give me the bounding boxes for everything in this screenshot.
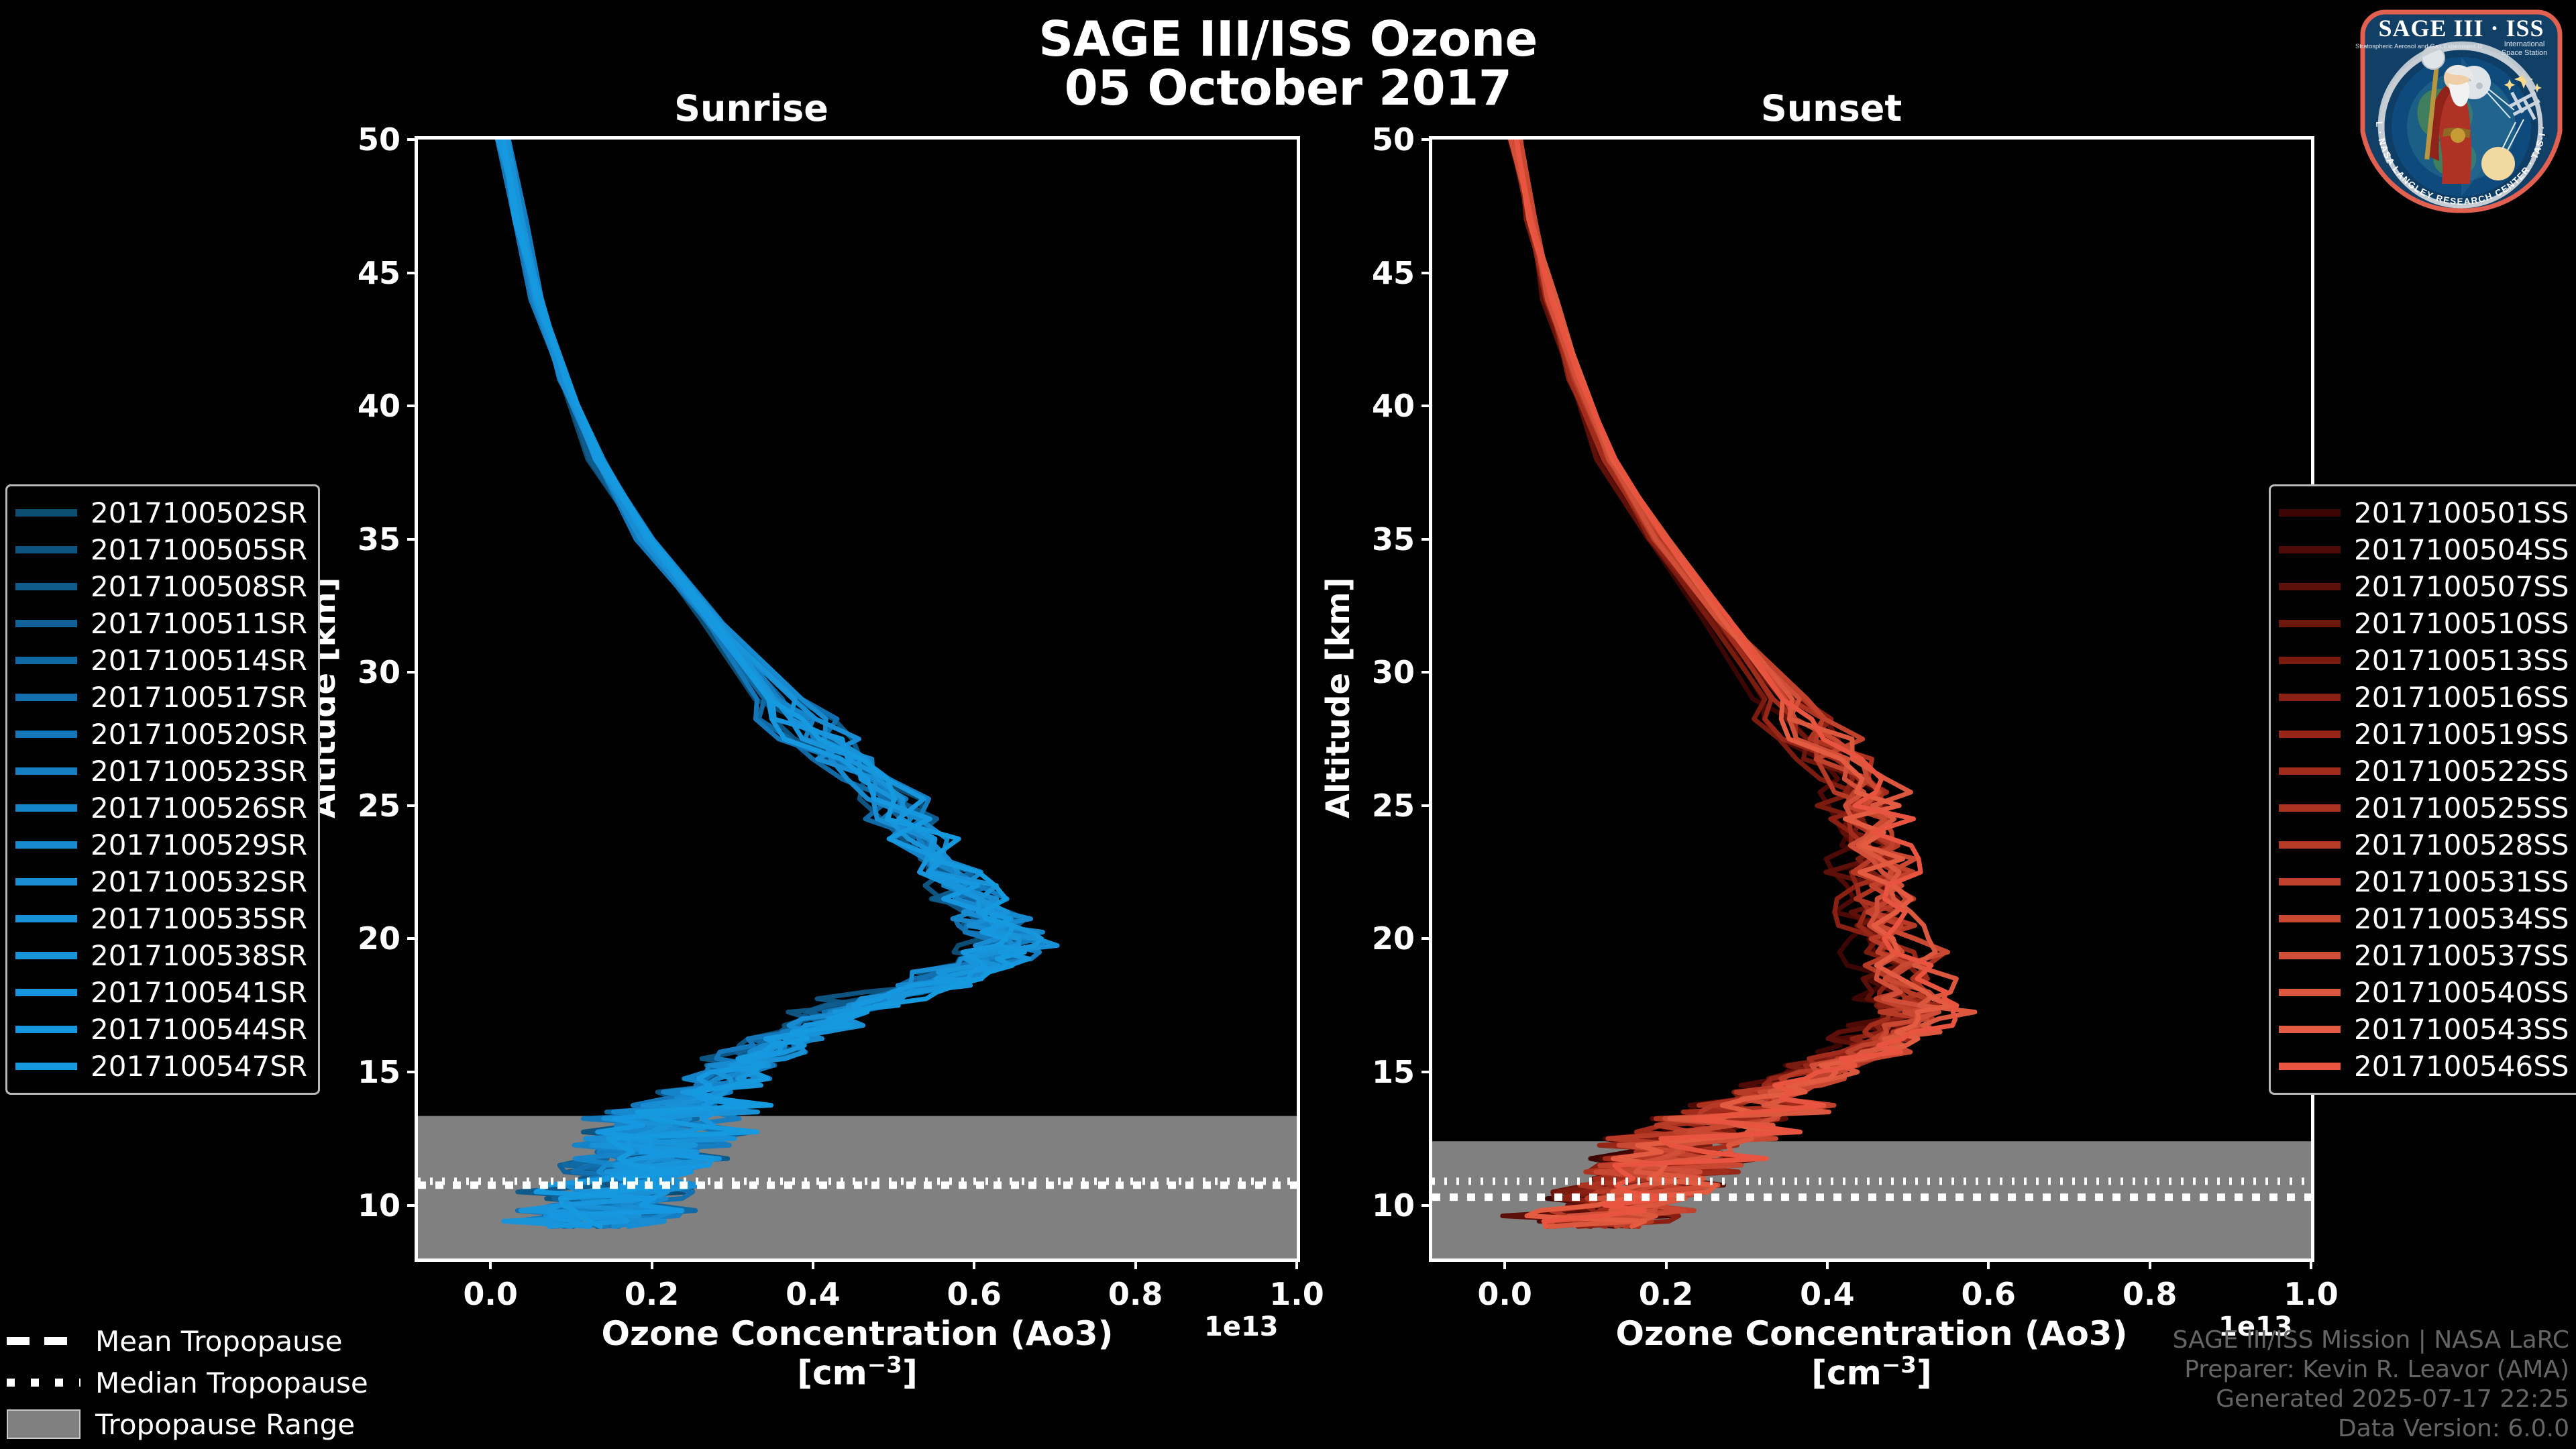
legend-color-swatch [2279, 841, 2341, 849]
x-axis-tick-label: 0.8 [2123, 1276, 2178, 1312]
sage-iii-iss-mission-patch-logo: SAGE III · ISS Stratospheric Aerosol and… [2355, 4, 2568, 217]
legend-label: 2017100511SR [91, 607, 307, 640]
y-axis-tick-mark [407, 1071, 418, 1073]
x-axis-tick-label: 0.2 [625, 1276, 680, 1312]
panel-title-sunset: Sunset [1630, 87, 2033, 129]
legend-item-sunrise-5[interactable]: 2017100517SR [15, 679, 307, 716]
plot-sunset: 101520253035404550 0.00.20.40.60.81.0 [1429, 136, 2314, 1262]
legend-color-swatch [2279, 952, 2341, 959]
legend-label: 2017100510SS [2354, 607, 2569, 640]
legend-item-sunrise-1[interactable]: 2017100505SR [15, 531, 307, 568]
legend-label: 2017100534SS [2354, 902, 2569, 935]
legend-item-sunset-8[interactable]: 2017100525SS [2279, 790, 2569, 826]
logo-title: SAGE III · ISS [2378, 15, 2544, 42]
filled-box-icon [7, 1414, 80, 1434]
legend-item-sunrise-7[interactable]: 2017100523SR [15, 753, 307, 790]
y-axis-label-sunset: Altitude [km] [1320, 577, 1357, 818]
x-axis-label-sunrise: Ozone Concentration (Ao3) [cm−3] [415, 1315, 1300, 1392]
x-axis-label-units-sunrise: [cm−3] [415, 1352, 1300, 1392]
legend-label: 2017100517SR [91, 681, 307, 714]
legend-label-mean-tropopause: Mean Tropopause [95, 1325, 342, 1358]
legend-color-swatch [15, 952, 77, 959]
legend-item-sunset-10[interactable]: 2017100531SS [2279, 863, 2569, 900]
legend-label: 2017100519SS [2354, 718, 2569, 751]
legend-label: 2017100535SR [91, 902, 307, 935]
legend-color-swatch [15, 878, 77, 885]
legend-label: 2017100523SR [91, 755, 307, 788]
legend-item-sunset-6[interactable]: 2017100519SS [2279, 716, 2569, 753]
logo-subtitle-left: Stratospheric Aerosol and Gas Experiment… [2355, 43, 2483, 50]
legend-label: 2017100544SR [91, 1013, 307, 1046]
y-axis-tick-mark [407, 671, 418, 674]
legend-label: 2017100504SS [2354, 533, 2569, 566]
data-series-line [1521, 140, 1945, 1226]
legend-item-sunrise-15[interactable]: 2017100547SR [15, 1048, 307, 1085]
legend-color-swatch [15, 731, 77, 738]
legend-item-sunset-9[interactable]: 2017100528SS [2279, 826, 2569, 863]
legend-label: 2017100531SS [2354, 865, 2569, 898]
legend-color-swatch [2279, 804, 2341, 812]
x-axis-tick-mark [812, 1258, 814, 1269]
legend-label: 2017100532SR [91, 865, 307, 898]
legend-label: 2017100529SR [91, 828, 307, 861]
data-series-line [1512, 140, 1939, 1226]
x-axis-tick-label: 0.6 [1962, 1276, 2017, 1312]
legend-color-swatch [2279, 878, 2341, 885]
page-title: SAGE III/ISS Ozone 05 October 2017 [0, 15, 2576, 113]
legend-label: 2017100514SR [91, 644, 307, 677]
legend-color-swatch [2279, 694, 2341, 701]
legend-item-sunset-13[interactable]: 2017100540SS [2279, 974, 2569, 1011]
x-axis-tick-mark [2149, 1258, 2151, 1269]
legend-label: 2017100525SS [2354, 792, 2569, 824]
x-axis-tick-mark [1987, 1258, 1990, 1269]
panel-title-sunrise: Sunrise [550, 87, 953, 129]
x-axis-tick-label: 0.4 [1800, 1276, 1855, 1312]
y-axis-tick-mark [407, 538, 418, 541]
y-axis-tick-mark [407, 405, 418, 407]
data-series-line [1516, 140, 1957, 1226]
legend-color-swatch [2279, 989, 2341, 996]
legend-label: 2017100508SR [91, 570, 307, 603]
x-axis-tick-mark [651, 1258, 653, 1269]
y-axis-tick-mark [407, 937, 418, 940]
y-axis-tick-mark [407, 804, 418, 807]
legend-label: 2017100547SR [91, 1050, 307, 1083]
legend-label: 2017100520SR [91, 718, 307, 751]
chart-canvas-sunrise [418, 140, 1297, 1258]
legend-color-swatch [2279, 731, 2341, 738]
legend-item-sunset-12[interactable]: 2017100537SS [2279, 937, 2569, 974]
legend-label-median-tropopause: Median Tropopause [95, 1366, 368, 1399]
legend-item-sunrise-3[interactable]: 2017100511SR [15, 605, 307, 642]
x-axis-tick-label: 0.8 [1108, 1276, 1163, 1312]
legend-color-swatch [15, 1063, 77, 1070]
legend-color-swatch [15, 804, 77, 812]
y-axis-tick-mark [1421, 272, 1432, 274]
x-axis-tick-mark [1826, 1258, 1829, 1269]
x-axis-tick-label: 0.0 [1477, 1276, 1532, 1312]
legend-label: 2017100522SS [2354, 755, 2569, 788]
legend-label-tropopause-range: Tropopause Range [95, 1408, 355, 1441]
legend-label: 2017100501SS [2354, 496, 2569, 529]
x-axis-tick-mark [973, 1258, 975, 1269]
legend-item-sunset-11[interactable]: 2017100534SS [2279, 900, 2569, 937]
y-axis-tick-mark [1421, 804, 1432, 807]
y-axis-tick-mark [407, 1204, 418, 1207]
legend-item-sunset-14[interactable]: 2017100543SS [2279, 1011, 2569, 1048]
x-axis-tick-mark [1134, 1258, 1137, 1269]
y-axis-tick-mark [1421, 1071, 1432, 1073]
legend-color-swatch [15, 657, 77, 664]
legend-item-sunrise-14[interactable]: 2017100544SR [15, 1011, 307, 1048]
legend-item-sunrise-8[interactable]: 2017100526SR [15, 790, 307, 826]
legend-item-sunrise-2[interactable]: 2017100508SR [15, 568, 307, 605]
legend-item-sunrise-11[interactable]: 2017100535SR [15, 900, 307, 937]
legend-label: 2017100507SS [2354, 570, 2569, 603]
legend-color-swatch [2279, 620, 2341, 627]
credits-mission: SAGE III/ISS Mission | NASA LaRC [2173, 1326, 2569, 1355]
title-line-1: SAGE III/ISS Ozone [0, 15, 2576, 64]
x-axis-tick-label: 0.6 [947, 1276, 1002, 1312]
dashed-line-icon [7, 1331, 80, 1351]
logo-subtitle-right-1: International [2504, 40, 2545, 48]
logo-subtitle-right-2: Space Station [2502, 49, 2548, 57]
title-line-2: 05 October 2017 [0, 64, 2576, 113]
y-axis-tick-mark [1421, 937, 1432, 940]
credits-data-version: Data Version: 6.0.0 [2173, 1414, 2569, 1444]
legend-item-sunset-1[interactable]: 2017100504SS [2279, 531, 2569, 568]
y-axis-tick-mark [1421, 405, 1432, 407]
mission-patch-icon: SAGE III · ISS Stratospheric Aerosol and… [2355, 4, 2568, 217]
dotted-line-icon [7, 1373, 80, 1393]
legend-item-tropopause-range: Tropopause Range [7, 1403, 368, 1445]
legend-label: 2017100546SS [2354, 1050, 2569, 1083]
legend-item-sunset-5[interactable]: 2017100516SS [2279, 679, 2569, 716]
data-series-line [1517, 140, 1951, 1226]
legend-item-sunrise-0[interactable]: 2017100502SR [15, 494, 307, 531]
legend-color-swatch [15, 694, 77, 701]
legend-item-sunset-15[interactable]: 2017100546SS [2279, 1048, 2569, 1085]
x-axis-offset-sunrise: 1e13 [1204, 1311, 1279, 1342]
y-axis-tick-mark [1421, 138, 1432, 141]
legend-color-swatch [15, 1026, 77, 1033]
plot-sunrise: 101520253035404550 0.00.20.40.60.81.0 [415, 136, 1300, 1262]
legend-color-swatch [2279, 1063, 2341, 1070]
plot-area-sunrise [418, 140, 1297, 1258]
data-series-line [1511, 140, 1939, 1226]
legend-color-swatch [15, 620, 77, 627]
legend-color-swatch [15, 989, 77, 996]
y-axis-tick-mark [1421, 671, 1432, 674]
x-axis-tick-mark [489, 1258, 492, 1269]
legend-item-sunset-0[interactable]: 2017100501SS [2279, 494, 2569, 531]
legend-color-swatch [2279, 767, 2341, 775]
legend-label: 2017100541SR [91, 976, 307, 1009]
plot-area-sunset [1432, 140, 2311, 1258]
legend-item-sunset-3[interactable]: 2017100510SS [2279, 605, 2569, 642]
legend-item-sunrise-9[interactable]: 2017100529SR [15, 826, 307, 863]
tropopause-legend: Mean Tropopause Median Tropopause Tropop… [7, 1320, 368, 1445]
legend-label: 2017100543SS [2354, 1013, 2569, 1046]
chart-canvas-sunset [1432, 140, 2311, 1258]
legend-item-sunset-2[interactable]: 2017100507SS [2279, 568, 2569, 605]
legend-label: 2017100526SR [91, 792, 307, 824]
legend-color-swatch [15, 583, 77, 590]
legend-item-sunrise-4[interactable]: 2017100514SR [15, 642, 307, 679]
legend-label: 2017100537SS [2354, 939, 2569, 972]
legend-item-sunrise-6[interactable]: 2017100520SR [15, 716, 307, 753]
legend-item-sunset-4[interactable]: 2017100513SS [2279, 642, 2569, 679]
x-axis-tick-mark [1665, 1258, 1668, 1269]
legend-color-swatch [15, 767, 77, 775]
legend-label: 2017100540SS [2354, 976, 2569, 1009]
x-axis-label-main-sunrise: Ozone Concentration (Ao3) [415, 1315, 1300, 1352]
legend-item-sunrise-10[interactable]: 2017100532SR [15, 863, 307, 900]
data-series-line [1521, 140, 1955, 1226]
legend-label: 2017100502SR [91, 496, 307, 529]
legend-color-swatch [2279, 915, 2341, 922]
legend-item-median-tropopause: Median Tropopause [7, 1362, 368, 1403]
legend-color-swatch [2279, 657, 2341, 664]
legend-item-sunrise-12[interactable]: 2017100538SR [15, 937, 307, 974]
y-axis-tick-mark [1421, 1204, 1432, 1207]
legend-sunrise[interactable]: 2017100502SR2017100505SR2017100508SR2017… [5, 484, 320, 1095]
legend-color-swatch [15, 915, 77, 922]
credits-generated: Generated 2025-07-17 22:25 [2173, 1385, 2569, 1414]
x-axis-tick-mark [1503, 1258, 1506, 1269]
legend-label: 2017100505SR [91, 533, 307, 566]
legend-color-swatch [2279, 509, 2341, 517]
y-axis-tick-mark [1421, 538, 1432, 541]
legend-item-sunset-7[interactable]: 2017100522SS [2279, 753, 2569, 790]
credits-preparer: Preparer: Kevin R. Leavor (AMA) [2173, 1355, 2569, 1385]
legend-color-swatch [15, 509, 77, 517]
x-axis-tick-label: 1.0 [1269, 1276, 1324, 1312]
credits-block: SAGE III/ISS Mission | NASA LaRC Prepare… [2173, 1326, 2569, 1444]
legend-color-swatch [2279, 546, 2341, 553]
legend-color-swatch [15, 841, 77, 849]
x-axis-tick-mark [2310, 1258, 2312, 1269]
legend-label: 2017100513SS [2354, 644, 2569, 677]
y-axis-tick-mark [407, 138, 418, 141]
x-axis-tick-label: 0.2 [1639, 1276, 1694, 1312]
y-axis-tick-mark [407, 272, 418, 274]
x-axis-tick-label: 0.0 [463, 1276, 518, 1312]
legend-color-swatch [15, 546, 77, 553]
legend-sunset[interactable]: 2017100501SS2017100504SS2017100507SS2017… [2269, 484, 2576, 1095]
legend-item-sunrise-13[interactable]: 2017100541SR [15, 974, 307, 1011]
data-series-line [1511, 140, 1933, 1226]
legend-color-swatch [2279, 1026, 2341, 1033]
x-axis-tick-label: 0.4 [786, 1276, 841, 1312]
legend-item-mean-tropopause: Mean Tropopause [7, 1320, 368, 1362]
x-axis-tick-mark [1295, 1258, 1298, 1269]
legend-label: 2017100538SR [91, 939, 307, 972]
x-axis-tick-label: 1.0 [2284, 1276, 2339, 1312]
legend-label: 2017100516SS [2354, 681, 2569, 714]
legend-label: 2017100528SS [2354, 828, 2569, 861]
legend-color-swatch [2279, 583, 2341, 590]
